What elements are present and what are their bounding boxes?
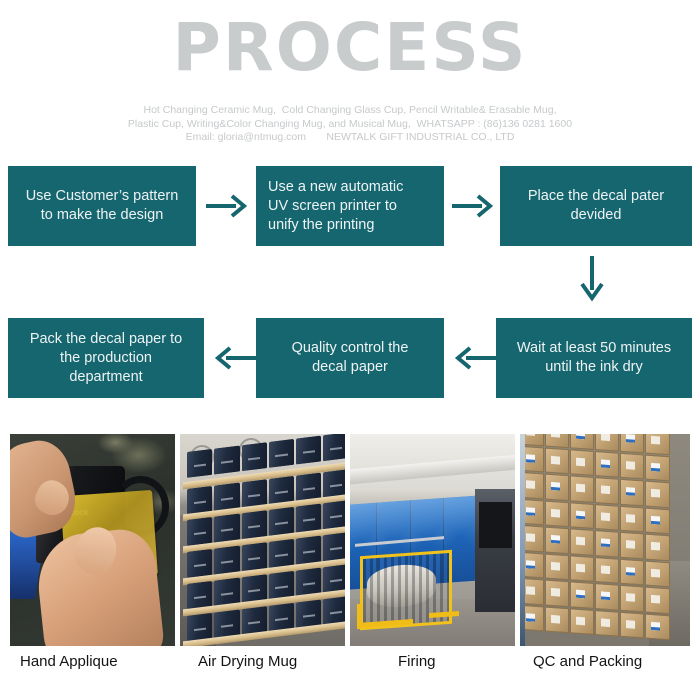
arrow-left-icon-2 [212,344,256,372]
flow-step-2: Use a new automatic UV screen printer to… [256,166,444,246]
company-info-line-2: Plastic Cup, Writing&Color Changing Mug,… [0,118,700,132]
flow-step-1-line-1: Use Customer’s pattern [20,187,184,206]
process-infographic: PROCESS Hot Changing Ceramic Mug, Cold C… [0,0,700,700]
flow-step-4-line-2: the production [20,349,192,368]
photo-qc-and-packing [520,434,690,646]
photo-hand-applique: ASRock. [10,434,175,646]
flow-step-3-line-2: devided [512,206,680,225]
flow-step-2-line-3: unify the printing [268,216,432,235]
company-info-line-3: Email: gloria@ntmug.com NEWTALK GIFT IND… [0,131,700,145]
arrow-right-icon-2 [452,192,496,220]
photo-caption-hand-applique: Hand Applique [20,652,118,672]
flow-step-6-line-1: Wait at least 50 minutes [508,339,680,358]
photo-firing [350,434,515,646]
page-title: PROCESS [0,8,700,88]
flow-step-3-line-1: Place the decal pater [512,187,680,206]
flow-step-5-line-1: Quality control the [268,339,432,358]
flow-step-5: Quality control the decal paper [256,318,444,398]
flow-step-4-line-1: Pack the decal paper to [20,330,192,349]
photo-caption-air-drying-mug: Air Drying Mug [198,652,297,672]
flow-step-2-line-1: Use a new automatic [268,178,432,197]
flow-step-2-line-2: UV screen printer to [268,197,432,216]
flow-step-6-line-2: until the ink dry [508,358,680,377]
flow-step-1: Use Customer’s pattern to make the desig… [8,166,196,246]
flow-step-1-line-2: to make the design [20,206,184,225]
photo-air-drying-mug [180,434,345,646]
photo-caption-qc-and-packing: QC and Packing [533,652,642,672]
flow-step-6: Wait at least 50 minutes until the ink d… [496,318,692,398]
arrow-left-icon-1 [452,344,496,372]
photo-caption-firing: Firing [398,652,436,672]
company-info-line-1: Hot Changing Ceramic Mug, Cold Changing … [0,104,700,118]
flow-step-4: Pack the decal paper to the production d… [8,318,204,398]
company-info: Hot Changing Ceramic Mug, Cold Changing … [0,104,700,145]
arrow-right-icon-1 [206,192,250,220]
flow-step-3: Place the decal pater devided [500,166,692,246]
flow-step-4-line-3: department [20,368,192,387]
flow-step-5-line-2: decal paper [268,358,432,377]
arrow-down-icon [576,256,608,306]
